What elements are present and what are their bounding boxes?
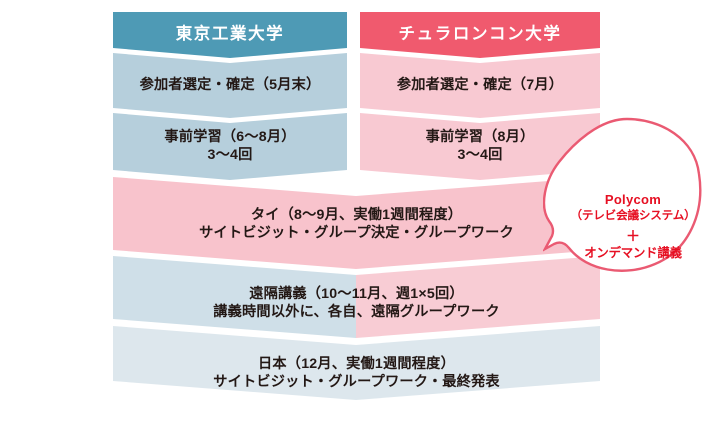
- callout-ondemand-label: オンデマンド講義: [558, 246, 708, 261]
- row-thailand-label: タイ（8〜9月、実働1週間程度） サイトビジット・グループ決定・グループワーク: [113, 206, 600, 243]
- polycom-callout: Polycom （テレビ会議システム） ＋ オンデマンド講義: [543, 116, 709, 278]
- row-selection-label-left: 参加者選定・確定（5月末）: [113, 76, 347, 94]
- row-prestudy-label-left: 事前学習（6〜8月） 3〜4回: [113, 128, 347, 165]
- row-remote-lecture-label: 遠隔講義（10〜11月、週1×5回） 講義時間以外に、各自、遠隔グループワーク: [113, 285, 600, 322]
- program-timeline-diagram: 東京工業大学 チュラロンコン大学 参加者選定・確定（5月末） 参加者選定・確定（…: [0, 0, 710, 427]
- column-header-tokyo-tech: 東京工業大学: [113, 20, 347, 44]
- callout-product-name: Polycom: [558, 192, 708, 208]
- column-header-chulalongkorn: チュラロンコン大学: [360, 20, 600, 44]
- callout-plus-sign: ＋: [558, 228, 708, 245]
- row-selection-label-right: 参加者選定・確定（7月）: [360, 76, 600, 94]
- row-japan-label: 日本（12月、実働1週間程度） サイトビジット・グループワーク・最終発表: [113, 355, 600, 392]
- callout-product-desc: （テレビ会議システム）: [558, 209, 708, 223]
